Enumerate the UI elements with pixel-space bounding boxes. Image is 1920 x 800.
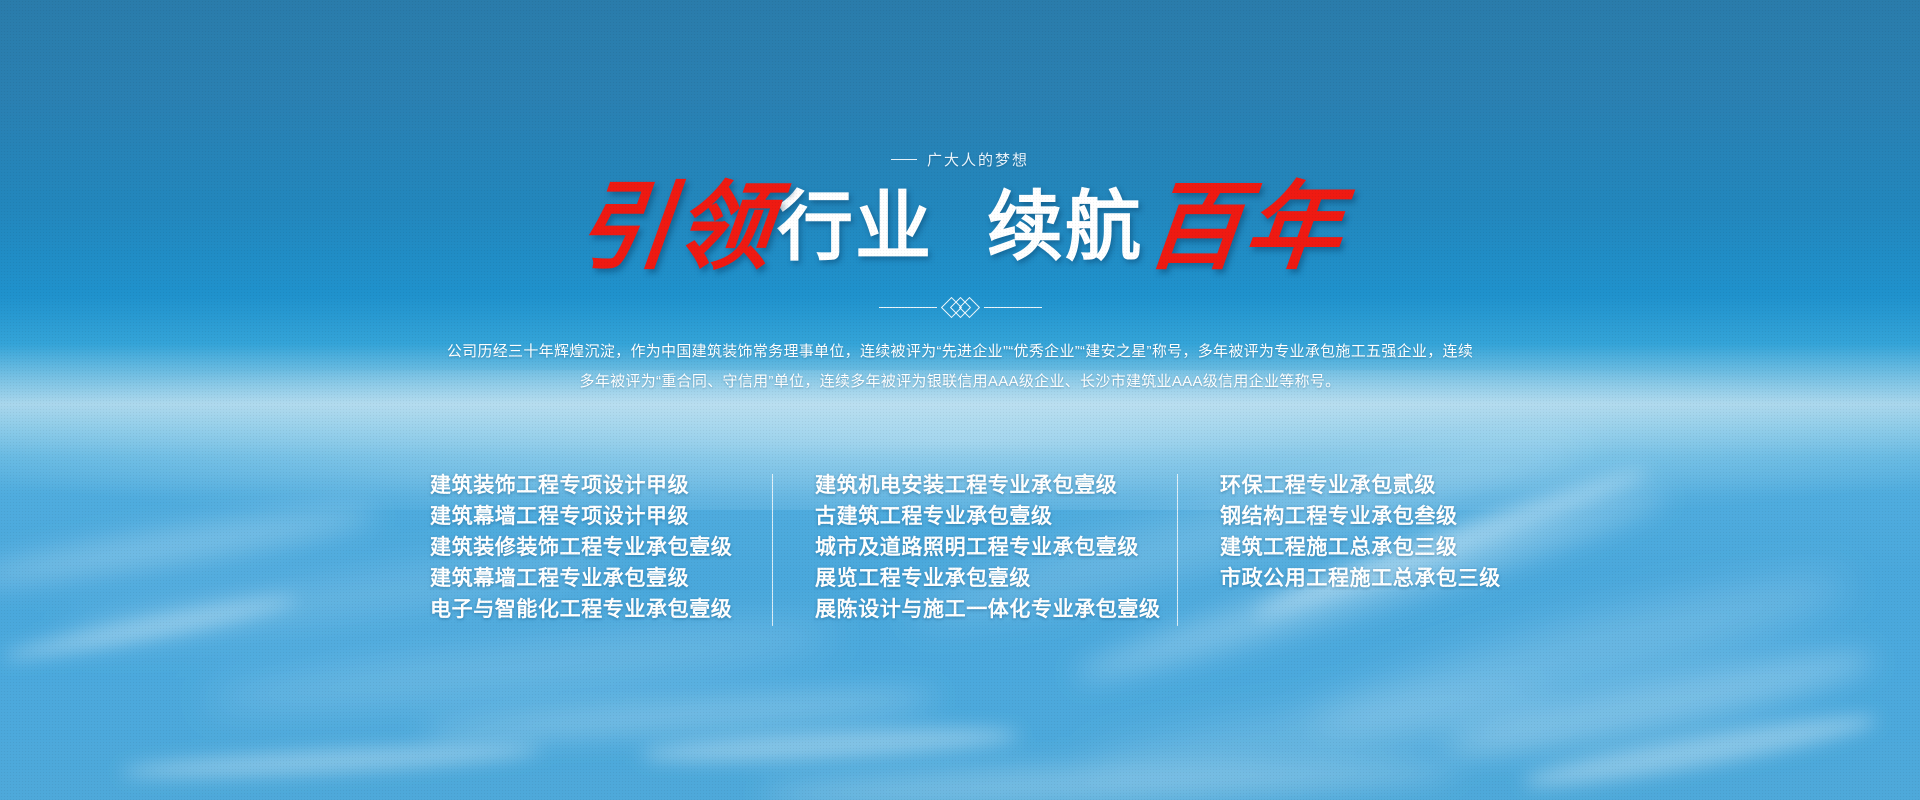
qualification-item: 古建筑工程专业承包壹级 <box>815 501 1135 532</box>
qualification-item: 建筑幕墙工程专业承包壹级 <box>430 563 730 594</box>
headline-part-century: 百年 <box>1141 174 1348 282</box>
qualification-column-mep-and-exhibition: 建筑机电安装工程专业承包壹级 古建筑工程专业承包壹级 城市及道路照明工程专业承包… <box>815 470 1135 625</box>
qualification-item: 建筑机电安装工程专业承包壹级 <box>815 470 1135 501</box>
column-divider <box>772 474 773 626</box>
hero-banner: 广大人的梦想 引领行业续航百年 公司历经三十年辉煌沉淀，作为中国建筑装饰常务理事… <box>0 0 1920 800</box>
qualification-item: 建筑装饰工程专项设计甲级 <box>430 470 730 501</box>
qualification-columns: 建筑装饰工程专项设计甲级 建筑幕墙工程专项设计甲级 建筑装修装饰工程专业承包壹级… <box>430 470 1490 626</box>
qualification-item: 建筑装修装饰工程专业承包壹级 <box>430 532 730 563</box>
eyebrow-dash-icon <box>891 159 917 160</box>
qualification-item: 建筑工程施工总承包三级 <box>1220 532 1490 563</box>
company-description: 公司历经三十年辉煌沉淀，作为中国建筑装饰常务理事单位，连续被评为“先进企业”“优… <box>420 337 1500 397</box>
divider-line-left <box>879 307 937 308</box>
qualification-item: 环保工程专业承包贰级 <box>1220 470 1490 501</box>
diamond-group <box>947 300 974 315</box>
qualification-column-general-contracting: 环保工程专业承包贰级 钢结构工程专业承包叁级 建筑工程施工总承包三级 市政公用工… <box>1220 470 1490 594</box>
column-divider <box>1177 474 1178 626</box>
qualification-item: 电子与智能化工程专业承包壹级 <box>430 594 730 625</box>
headline-part-lead: 引领 <box>571 174 778 282</box>
description-line-2: 多年被评为“重合同、守信用”单位，连续多年被评为银联信用AAA级企业、长沙市建筑… <box>420 367 1500 397</box>
hero-headline: 引领行业续航百年 <box>0 174 1920 284</box>
divider-line-right <box>984 307 1042 308</box>
hero-eyebrow: 广大人的梦想 <box>0 149 1920 170</box>
description-line-1: 公司历经三十年辉煌沉淀，作为中国建筑装饰常务理事单位，连续被评为“先进企业”“优… <box>420 337 1500 367</box>
qualification-item: 钢结构工程专业承包叁级 <box>1220 501 1490 532</box>
qualification-item: 展陈设计与施工一体化专业承包壹级 <box>815 594 1135 625</box>
qualification-item: 市政公用工程施工总承包三级 <box>1220 563 1490 594</box>
qualification-column-design-and-decoration: 建筑装饰工程专项设计甲级 建筑幕墙工程专项设计甲级 建筑装修装饰工程专业承包壹级… <box>430 470 730 625</box>
qualification-item: 建筑幕墙工程专项设计甲级 <box>430 501 730 532</box>
qualification-item: 城市及道路照明工程专业承包壹级 <box>815 532 1135 563</box>
triple-diamond-divider-icon <box>0 296 1920 318</box>
headline-part-continue: 续航 <box>987 174 1143 282</box>
qualification-item: 展览工程专业承包壹级 <box>815 563 1135 594</box>
eyebrow-text: 广大人的梦想 <box>927 152 1029 169</box>
headline-part-industry: 行业 <box>777 174 933 282</box>
